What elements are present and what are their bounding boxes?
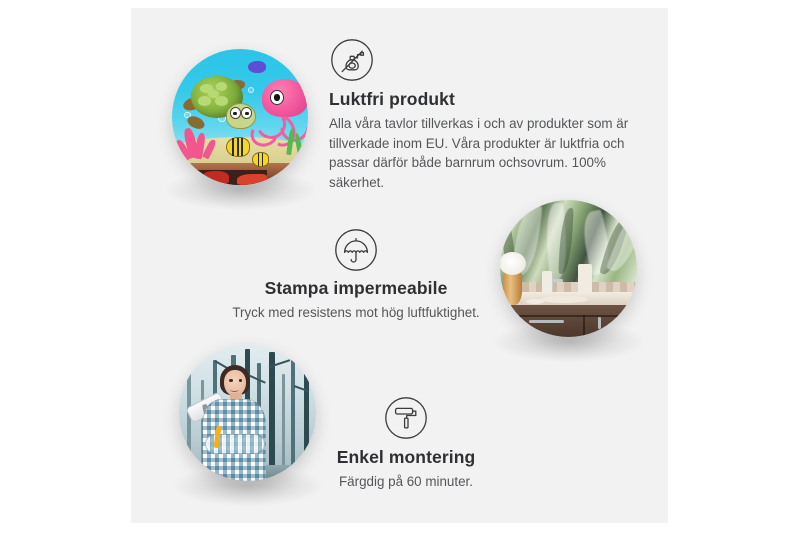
blue-fish <box>248 61 266 73</box>
woman-eye <box>229 379 233 382</box>
wooden-vanity-cabinet <box>511 305 637 337</box>
paint-roller-icon <box>384 396 428 440</box>
underwater-scene <box>172 49 308 185</box>
umbrella-icon <box>334 228 378 272</box>
bathroom-tropical-wallpaper-photo <box>500 200 637 337</box>
woman-smile <box>230 386 240 391</box>
drawer-handle[interactable] <box>529 320 563 324</box>
no-odour-spray-bottle-icon <box>330 38 374 82</box>
woman-face <box>224 370 246 396</box>
feature-body: Tryck med resistens mot hög luftfuktighe… <box>222 303 490 323</box>
feature-title: Luktfri produkt <box>329 89 629 110</box>
feature-body: Alla våra tavlor tillverkas i och av pro… <box>329 114 629 192</box>
painter-scene <box>179 344 316 481</box>
red-object-right <box>237 174 267 185</box>
feature-easy-mounting: Enkel montering Färgdig på 60 minuter. <box>302 396 510 492</box>
soap-dish <box>526 299 544 304</box>
gold-vase <box>503 271 522 305</box>
underwater-cartoon-mural-photo <box>172 49 308 185</box>
feature-title: Stampa impermeabile <box>222 278 490 299</box>
woman-eye <box>239 379 243 382</box>
cabinet-handle[interactable] <box>598 317 602 330</box>
woman-painter-forest-mural-photo <box>179 344 316 481</box>
sink-basin <box>541 296 588 303</box>
soap-dispenser <box>578 264 592 294</box>
product-feature-page: Luktfri produkt Alla våra tavlor tillver… <box>0 0 800 533</box>
striped-fish-small <box>252 152 269 166</box>
turtle-eye <box>230 107 241 119</box>
bathroom-scene <box>500 200 637 337</box>
feature-waterproof: Stampa impermeabile Tryck med resistens … <box>222 228 490 323</box>
feature-body: Färgdig på 60 minuter. <box>302 472 510 492</box>
feature-title: Enkel montering <box>302 447 510 468</box>
red-object-left <box>202 171 229 183</box>
tree-trunk <box>291 360 295 481</box>
tree-trunk <box>269 352 275 481</box>
striped-fish <box>226 137 250 157</box>
feature-odour-free: Luktfri produkt Alla våra tavlor tillver… <box>329 38 629 192</box>
